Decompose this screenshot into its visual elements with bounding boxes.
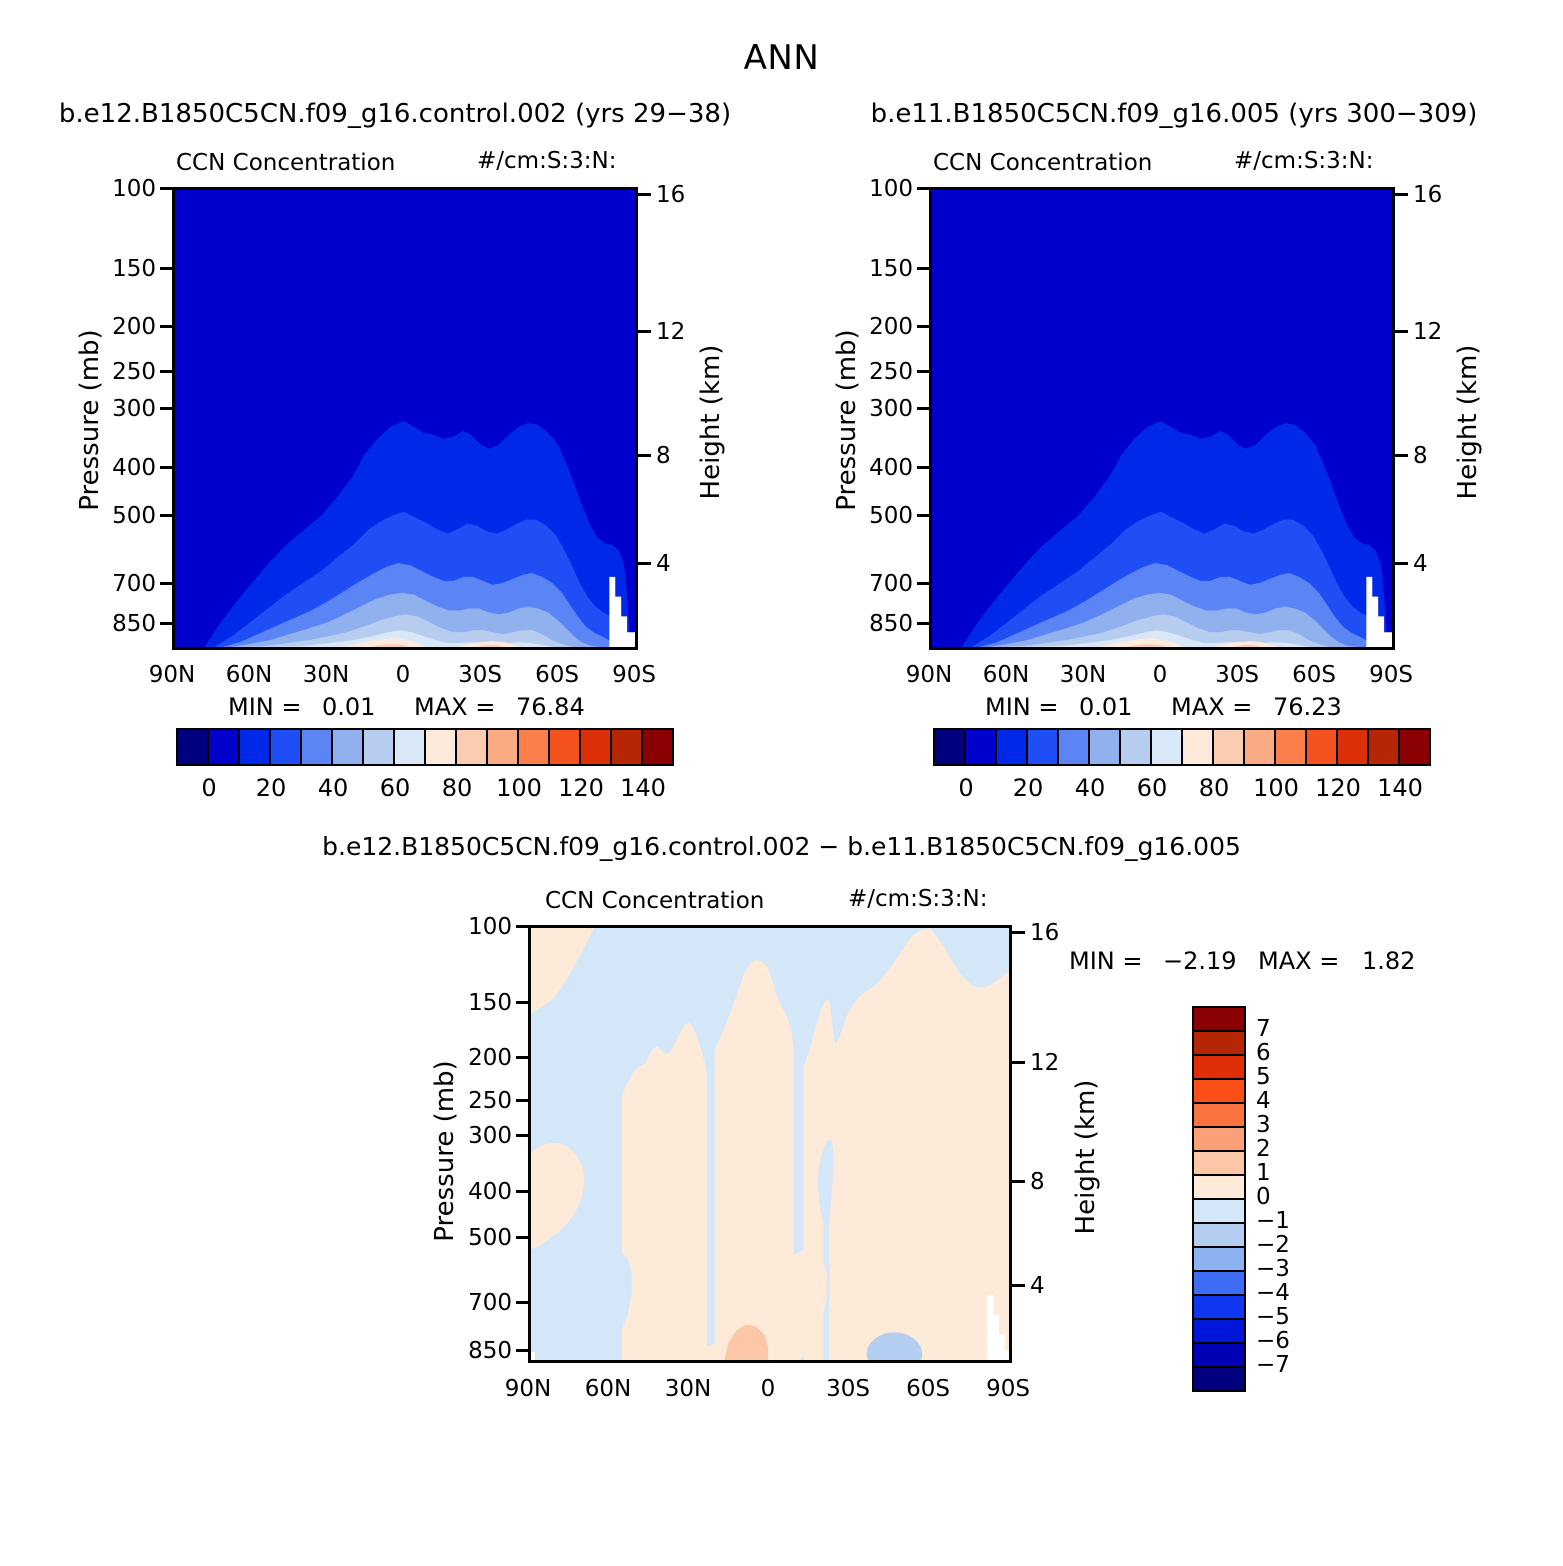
ytick-mark (917, 466, 930, 469)
colorbar-swatch (1194, 1368, 1244, 1390)
right-unit-label: #/cm:S:3:N: (1234, 148, 1374, 174)
left-contour-plot[interactable] (172, 187, 638, 650)
diff-pressure-axis-title: Pressure (mb) (430, 1041, 460, 1261)
right-max-value: 76.23 (1273, 693, 1342, 721)
ytick-mark (516, 1134, 529, 1137)
y2tick-label: 4 (656, 551, 671, 577)
colorbar-swatch (1245, 730, 1276, 764)
diff-contour-field (531, 928, 1009, 1360)
ytick-mark (917, 622, 930, 625)
y2tick-mark (1012, 1180, 1025, 1183)
colorbar-swatch (333, 730, 364, 764)
y2tick-mark (1395, 454, 1408, 457)
y2tick-label: 8 (656, 443, 671, 469)
left-pressure-axis-title: Pressure (mb) (75, 310, 105, 530)
y2tick-label: 16 (1413, 182, 1442, 208)
ytick-mark (516, 1056, 529, 1059)
colorbar-swatch (1400, 730, 1429, 764)
season-title: ANN (0, 38, 1563, 78)
ytick-mark (516, 925, 529, 928)
colorbar-swatch (240, 730, 271, 764)
ytick-mark (516, 1236, 529, 1239)
right-contour-field (932, 190, 1392, 647)
colorbar-swatch (1194, 1200, 1244, 1224)
colorbar-swatch (1194, 1272, 1244, 1296)
colorbar-tick-label: −7 (1256, 1352, 1290, 1378)
ytick-mark (160, 325, 173, 328)
y2tick-label: 4 (1413, 551, 1428, 577)
y2tick-mark (1395, 330, 1408, 333)
colorbar-swatch (1194, 1080, 1244, 1104)
ytick-label: 100 (60, 176, 156, 202)
left-panel-title: b.e12.B1850C5CN.f09_g16.control.002 (yrs… (0, 99, 790, 129)
y2tick-mark (1012, 931, 1025, 934)
xtick-label: 60S (1274, 662, 1354, 688)
ytick-mark (160, 582, 173, 585)
colorbar-swatch (935, 730, 966, 764)
left-colorbar[interactable] (176, 728, 674, 766)
colorbar-tick-label: 2 (1256, 1136, 1271, 1162)
ytick-label: 100 (416, 914, 512, 940)
ytick-mark (516, 1190, 529, 1193)
xtick-label: 0 (728, 1376, 808, 1402)
colorbar-tick-label: 0 (1256, 1184, 1271, 1210)
right-pressure-axis-title: Pressure (mb) (832, 310, 862, 530)
ytick-label: 850 (60, 611, 156, 637)
ytick-mark (917, 582, 930, 585)
xtick-label: 30S (440, 662, 520, 688)
colorbar-swatch (302, 730, 333, 764)
colorbar-swatch (395, 730, 426, 764)
colorbar-swatch (1194, 1104, 1244, 1128)
colorbar-tick-label: 140 (603, 774, 683, 802)
ytick-mark (160, 370, 173, 373)
colorbar-swatch (1194, 1296, 1244, 1320)
ytick-label: 150 (416, 990, 512, 1016)
y2tick-mark (1012, 1061, 1025, 1064)
ytick-mark (160, 407, 173, 410)
right-height-axis-title: Height (km) (1453, 312, 1483, 532)
left-height-axis-title: Height (km) (696, 312, 726, 532)
y2tick-label: 4 (1030, 1273, 1045, 1299)
diff-height-axis-title: Height (km) (1071, 1047, 1101, 1267)
colorbar-tick-label: −2 (1256, 1232, 1290, 1258)
colorbar-swatch (1194, 1176, 1244, 1200)
colorbar-swatch (457, 730, 488, 764)
colorbar-swatch (271, 730, 302, 764)
right-panel-title: b.e11.B1850C5CN.f09_g16.005 (yrs 300−309… (785, 99, 1563, 129)
left-max-value: 76.84 (516, 693, 585, 721)
colorbar-swatch (1369, 730, 1400, 764)
ytick-mark (917, 407, 930, 410)
colorbar-swatch (1090, 730, 1121, 764)
xtick-label: 90S (968, 1376, 1048, 1402)
xtick-label: 30S (1197, 662, 1277, 688)
left-min-value: 0.01 (322, 693, 375, 721)
xtick-label: 30N (648, 1376, 728, 1402)
colorbar-swatch (1194, 1320, 1244, 1344)
left-max-label: MAX = (414, 693, 495, 721)
right-colorbar[interactable] (933, 728, 1431, 766)
colorbar-swatch (364, 730, 395, 764)
colorbar-tick-label: 4 (1256, 1088, 1271, 1114)
xtick-label: 0 (363, 662, 443, 688)
ytick-mark (160, 514, 173, 517)
colorbar-swatch (1183, 730, 1214, 764)
ytick-mark (917, 267, 930, 270)
colorbar-swatch (1194, 1128, 1244, 1152)
diff-colorbar[interactable] (1192, 1006, 1246, 1392)
colorbar-swatch (1194, 1152, 1244, 1176)
colorbar-swatch (1194, 1032, 1244, 1056)
ytick-mark (917, 370, 930, 373)
colorbar-swatch (997, 730, 1028, 764)
colorbar-swatch (1276, 730, 1307, 764)
xtick-label: 90N (488, 1376, 568, 1402)
colorbar-swatch (1194, 1248, 1244, 1272)
left-min-label: MIN = (228, 693, 301, 721)
ytick-label: 100 (817, 176, 913, 202)
ytick-label: 850 (817, 611, 913, 637)
colorbar-swatch (488, 730, 519, 764)
ytick-label: 700 (817, 571, 913, 597)
colorbar-tick-label: 7 (1256, 1016, 1271, 1042)
diff-max-label: MAX = (1258, 947, 1339, 975)
colorbar-swatch (1194, 1008, 1244, 1032)
y2tick-mark (638, 562, 651, 565)
colorbar-swatch (550, 730, 581, 764)
right-contour-plot[interactable] (929, 187, 1395, 650)
ytick-mark (160, 187, 173, 190)
xtick-label: 90N (889, 662, 969, 688)
colorbar-tick-label: −5 (1256, 1304, 1290, 1330)
xtick-label: 90S (594, 662, 674, 688)
ytick-mark (917, 325, 930, 328)
ytick-mark (160, 267, 173, 270)
xtick-label: 90N (132, 662, 212, 688)
xtick-label: 60N (568, 1376, 648, 1402)
ytick-label: 150 (60, 256, 156, 282)
right-min-label: MIN = (985, 693, 1058, 721)
xtick-label: 60S (517, 662, 597, 688)
ytick-mark (160, 622, 173, 625)
y2tick-mark (1012, 1284, 1025, 1287)
ytick-mark (516, 1301, 529, 1304)
diff-contour-plot[interactable] (528, 925, 1012, 1363)
xtick-label: 30N (1043, 662, 1123, 688)
ytick-label: 700 (416, 1290, 512, 1316)
ytick-mark (917, 187, 930, 190)
xtick-label: 60N (966, 662, 1046, 688)
colorbar-swatch (426, 730, 457, 764)
colorbar-swatch (581, 730, 612, 764)
colorbar-tick-label: −1 (1256, 1208, 1290, 1234)
colorbar-swatch (966, 730, 997, 764)
y2tick-label: 12 (656, 319, 685, 345)
colorbar-swatch (1194, 1056, 1244, 1080)
diff-max-value: 1.82 (1362, 947, 1415, 975)
ytick-label: 150 (817, 256, 913, 282)
ytick-mark (516, 1001, 529, 1004)
xtick-label: 30N (286, 662, 366, 688)
left-contour-field (175, 190, 635, 647)
colorbar-swatch (1307, 730, 1338, 764)
diff-min-value: −2.19 (1163, 947, 1237, 975)
y2tick-mark (1395, 193, 1408, 196)
diff-panel-title: b.e12.B1850C5CN.f09_g16.control.002 − b.… (0, 832, 1563, 861)
ytick-mark (516, 1099, 529, 1102)
y2tick-label: 8 (1030, 1169, 1045, 1195)
colorbar-tick-label: 6 (1256, 1040, 1271, 1066)
colorbar-swatch (1194, 1224, 1244, 1248)
right-variable-label: CCN Concentration (933, 150, 1152, 176)
colorbar-swatch (1028, 730, 1059, 764)
colorbar-swatch (1121, 730, 1152, 764)
y2tick-mark (638, 454, 651, 457)
colorbar-swatch (1059, 730, 1090, 764)
colorbar-swatch (612, 730, 643, 764)
colorbar-swatch (1194, 1344, 1244, 1368)
xtick-label: 0 (1120, 662, 1200, 688)
colorbar-swatch (209, 730, 240, 764)
colorbar-tick-label: 1 (1256, 1160, 1271, 1186)
xtick-label: 60S (888, 1376, 968, 1402)
y2tick-label: 12 (1413, 319, 1442, 345)
diff-unit-label: #/cm:S:3:N: (848, 886, 988, 912)
y2tick-mark (1395, 562, 1408, 565)
colorbar-tick-label: −6 (1256, 1328, 1290, 1354)
colorbar-swatch (1152, 730, 1183, 764)
y2tick-label: 16 (656, 182, 685, 208)
y2tick-mark (638, 330, 651, 333)
right-min-value: 0.01 (1079, 693, 1132, 721)
y2tick-label: 12 (1030, 1050, 1059, 1076)
diff-variable-label: CCN Concentration (545, 888, 764, 914)
ytick-mark (160, 466, 173, 469)
colorbar-tick-label: 3 (1256, 1112, 1271, 1138)
left-variable-label: CCN Concentration (176, 150, 395, 176)
colorbar-tick-label: 5 (1256, 1064, 1271, 1090)
ytick-mark (516, 1349, 529, 1352)
colorbar-swatch (1214, 730, 1245, 764)
colorbar-swatch (178, 730, 209, 764)
left-unit-label: #/cm:S:3:N: (477, 148, 617, 174)
colorbar-swatch (643, 730, 672, 764)
colorbar-swatch (519, 730, 550, 764)
ytick-mark (917, 514, 930, 517)
colorbar-tick-label: −3 (1256, 1256, 1290, 1282)
colorbar-tick-label: −4 (1256, 1280, 1290, 1306)
xtick-label: 30S (808, 1376, 888, 1402)
ytick-label: 700 (60, 571, 156, 597)
y2tick-label: 16 (1030, 920, 1059, 946)
right-max-label: MAX = (1171, 693, 1252, 721)
y2tick-label: 8 (1413, 443, 1428, 469)
y2tick-mark (638, 193, 651, 196)
xtick-label: 90S (1351, 662, 1431, 688)
ytick-label: 850 (416, 1338, 512, 1364)
colorbar-swatch (1338, 730, 1369, 764)
xtick-label: 60N (209, 662, 289, 688)
colorbar-tick-label: 140 (1360, 774, 1440, 802)
diff-min-label: MIN = (1069, 947, 1142, 975)
